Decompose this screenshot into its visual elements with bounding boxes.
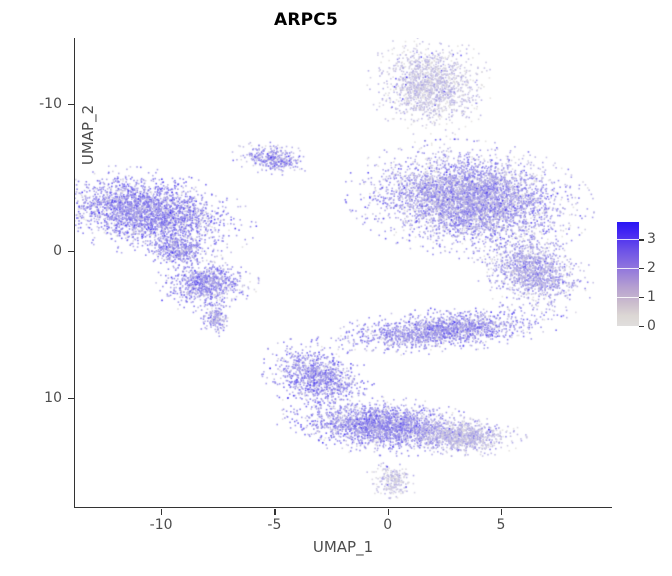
- y-tick-label: -10: [39, 96, 62, 112]
- x-axis-title: UMAP_1: [74, 538, 612, 556]
- colorbar-tick: [617, 268, 639, 269]
- scatter-points-canvas: [75, 38, 612, 508]
- x-tick-mark: [161, 509, 162, 515]
- x-axis-line: [74, 507, 612, 508]
- x-tick-mark: [388, 509, 389, 515]
- y-tick-label: 0: [53, 243, 62, 259]
- colorbar-label: 0: [647, 318, 656, 334]
- x-tick-mark: [501, 509, 502, 515]
- y-tick-mark: [68, 398, 74, 399]
- y-tick-mark: [68, 251, 74, 252]
- y-tick-label: 10: [44, 390, 62, 406]
- colorbar-tick-mark: [639, 326, 644, 327]
- colorbar-label: 2: [647, 260, 656, 276]
- y-tick-mark: [68, 104, 74, 105]
- x-tick-label: -5: [267, 517, 281, 533]
- colorbar-tick: [617, 297, 639, 298]
- y-axis-line: [74, 38, 75, 508]
- colorbar-tick-mark: [639, 239, 644, 240]
- colorbar-tick: [617, 239, 639, 240]
- colorbar-label: 3: [647, 231, 656, 247]
- x-tick-mark: [274, 509, 275, 515]
- colorbar-label: 1: [647, 289, 656, 305]
- colorbar-legend: 0123: [617, 222, 639, 326]
- x-tick-label: 5: [497, 517, 506, 533]
- colorbar-gradient: [617, 222, 639, 326]
- umap-feature-plot: ARPC5 -10-505 100-10 UMAP_1 UMAP_2 0123: [0, 0, 672, 576]
- colorbar-tick: [617, 326, 639, 327]
- y-axis-title: UMAP_2: [79, 0, 97, 285]
- colorbar-tick-mark: [639, 297, 644, 298]
- x-tick-label: -10: [150, 517, 173, 533]
- colorbar-tick-mark: [639, 268, 644, 269]
- x-tick-label: 0: [383, 517, 392, 533]
- plot-panel: [75, 38, 612, 508]
